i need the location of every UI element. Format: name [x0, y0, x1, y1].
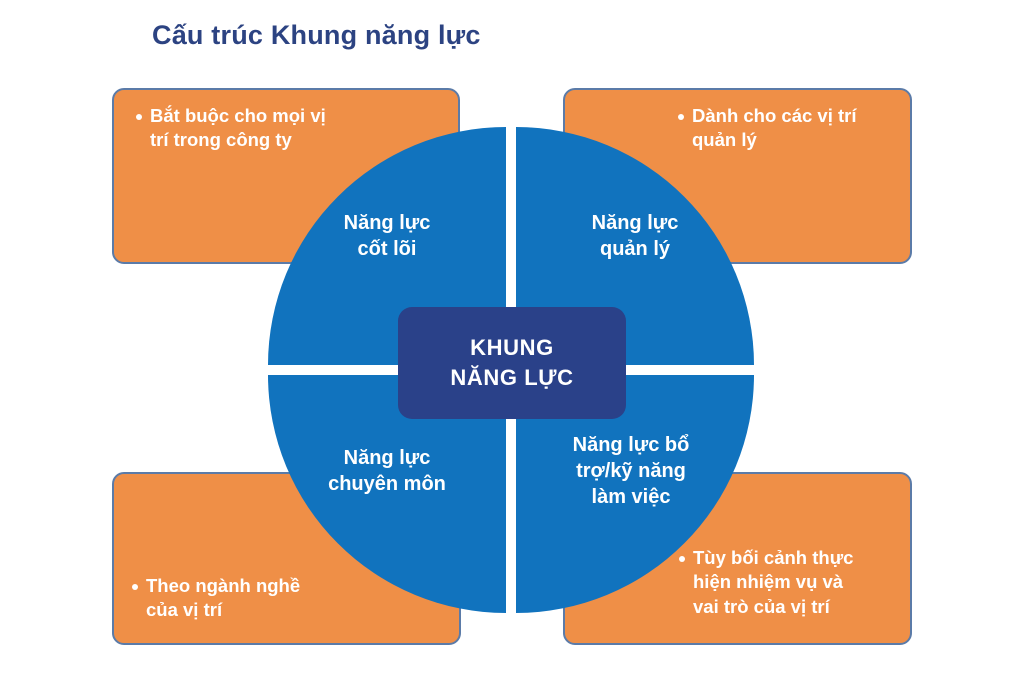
quadrant-label-bottom-right: Năng lực bổ trợ/kỹ năng làm việc [512, 432, 750, 510]
quadrant-label-bottom-left: Năng lực chuyên môn [268, 445, 506, 497]
page-title: Cấu trúc Khung năng lực [152, 20, 481, 51]
bullet-dot-icon [678, 114, 684, 120]
center-badge: KHUNG NĂNG LỰC [398, 307, 626, 419]
diagram-canvas: Cấu trúc Khung năng lực Bắt buộc cho mọi… [0, 0, 1024, 683]
bullet-dot-icon [136, 114, 142, 120]
bullet-dot-icon [132, 584, 138, 590]
quadrant-label-top-left: Năng lực cốt lõi [268, 210, 506, 262]
center-badge-text: KHUNG NĂNG LỰC [450, 333, 573, 392]
quadrant-label-top-right: Năng lực quản lý [516, 210, 754, 262]
